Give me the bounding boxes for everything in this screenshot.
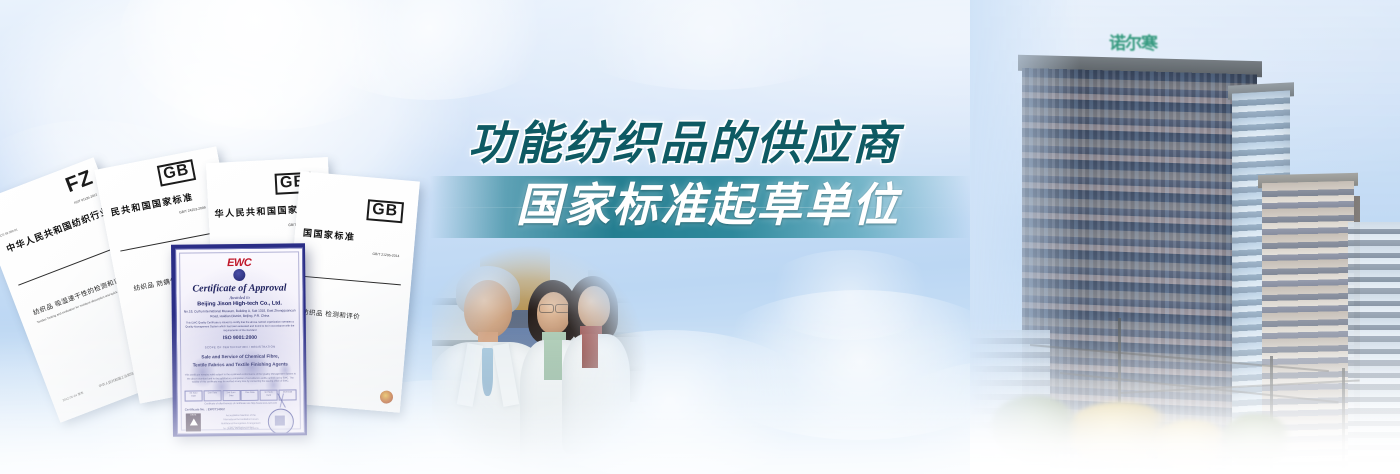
certificate-title: Certificate of Approval [176, 282, 302, 294]
certifier-emblem-icon [233, 269, 245, 281]
certificate-company-name: Beijing Jison High-tech Co., Ltd. [177, 300, 303, 307]
headline-group: 功能纺织品的供应商 国家标准起草单位 [0, 112, 960, 236]
bottom-cloud-veil [0, 314, 1400, 474]
company-banner: 诺尔寒 [0, 0, 1400, 474]
headline-line-1: 功能纺织品的供应商 [0, 112, 900, 174]
divider [301, 276, 401, 286]
headline-line-2: 国家标准起草单位 [0, 174, 900, 236]
ewc-logo: EWC [176, 256, 302, 269]
standard-code: GB/T 21295-2014 [372, 252, 399, 258]
